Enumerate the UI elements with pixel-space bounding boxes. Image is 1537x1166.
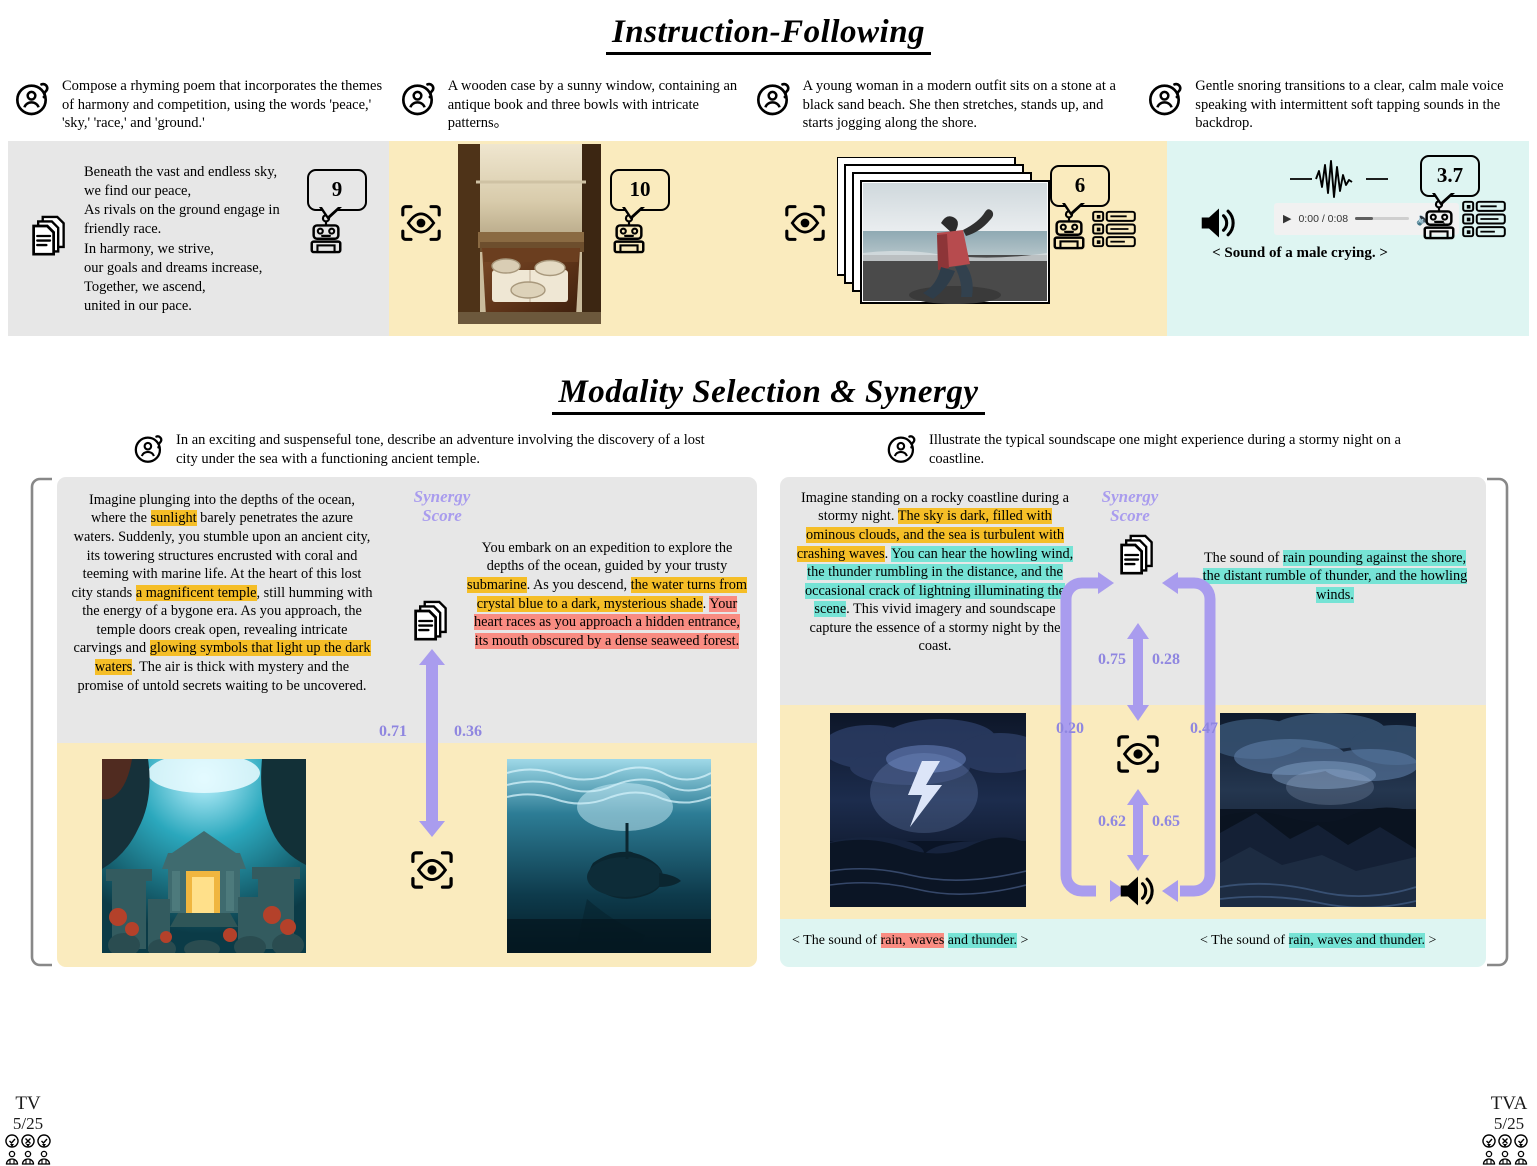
score-bubble: 10 — [610, 169, 670, 211]
score-bubble: 3.7 — [1420, 155, 1480, 197]
score-vision-audio-left: 0.62 — [1098, 813, 1126, 831]
prompt-cell-image: A wooden case by a sunny window, contain… — [394, 73, 749, 136]
highlight-y: submarine — [467, 577, 527, 593]
score-robot-audio: 3.7 — [1420, 155, 1506, 240]
generated-video-frames-beach — [837, 157, 1052, 305]
page-title-instruction-following: Instruction-Following — [606, 14, 931, 55]
document-stack-icon — [30, 214, 70, 258]
prompt-left: In an exciting and suspenseful tone, des… — [133, 431, 713, 469]
count-label: 5/25 — [4, 1114, 52, 1133]
speaker-icon — [1116, 871, 1160, 911]
score-robot-image: 10 — [610, 169, 670, 254]
rich-text: Imagine standing on a rocky coastline du… — [797, 490, 1073, 655]
output-cell-audio: ▶ 0:00 / 0:08 🔈 ⋮ < Sound of a male cryi… — [1167, 141, 1529, 336]
text-run: . As you descend, — [527, 577, 631, 593]
prompt-text: Gentle snoring transitions to a clear, c… — [1195, 77, 1519, 132]
panel-left: In an exciting and suspenseful tone, des… — [0, 431, 768, 479]
audio-progress-bar[interactable] — [1355, 217, 1409, 220]
prompt-text: Compose a rhyming poem that incorporates… — [62, 77, 384, 132]
output-text-a: Imagine plunging into the depths of the … — [71, 491, 373, 695]
robot-icon — [610, 214, 648, 254]
robot-icon — [1050, 210, 1088, 250]
prompt-text: In an exciting and suspenseful tone, des… — [176, 431, 713, 469]
person-question-icon — [14, 79, 54, 119]
output-text-a: Imagine standing on a rocky coastline du… — [794, 489, 1076, 656]
synergy-line2: Score — [1070, 506, 1190, 525]
prompt-right: Illustrate the typical soundscape one mi… — [886, 431, 1446, 469]
generated-image-submarine — [507, 759, 711, 953]
score-outer-right: 0.47 — [1190, 720, 1218, 738]
eye-scan-icon — [409, 849, 455, 891]
text-run: > — [1017, 933, 1028, 948]
rich-text: The sound of rain pounding against the s… — [1203, 550, 1468, 603]
synergy-arrow-vertical — [415, 649, 449, 837]
document-stack-icon — [1118, 533, 1158, 577]
audio-caption: < Sound of a male crying. > — [1119, 245, 1481, 262]
bracket-right — [1485, 477, 1509, 967]
synergy-line1: Synergy — [1070, 487, 1190, 506]
verdict-icons — [1481, 1133, 1537, 1166]
text-run: . This vivid imagery and soundscape capt… — [810, 601, 1061, 654]
count-label: 5/25 — [1481, 1114, 1537, 1133]
highlight-y: a magnificent temple — [136, 585, 257, 601]
synergy-score-left-value: 0.71 — [379, 723, 407, 741]
checklist-icon — [1462, 200, 1506, 238]
score-text-vision-right: 0.28 — [1152, 651, 1180, 669]
modalities-label: TVA — [1481, 1093, 1537, 1114]
synergy-score-right-value: 0.36 — [454, 723, 482, 741]
person-question-icon — [1147, 79, 1187, 119]
score-bubble: 6 — [1050, 165, 1110, 207]
prompt-cell-text: Compose a rhyming poem that incorporates… — [8, 73, 394, 136]
eye-scan-icon — [783, 203, 827, 243]
score-bubble: 9 — [307, 169, 367, 211]
highlight-r: rain, waves — [881, 933, 945, 948]
text-run: > — [1425, 933, 1436, 948]
generated-image-sunken-temple — [102, 759, 306, 953]
panel-right: Illustrate the typical soundscape one mi… — [768, 431, 1537, 479]
score-robot-text: 9 — [307, 169, 367, 254]
generated-image-lightning-storm — [830, 713, 1026, 907]
audio-caption-left: < The sound of rain, waves and thunder. … — [792, 933, 1062, 949]
synergy-score-label-left: Synergy Score — [387, 487, 497, 525]
waveform-icon — [1290, 159, 1388, 199]
output-text-b: You embark on an expedition to explore t… — [467, 539, 747, 650]
top-output-strip: Beneath the vast and endless sky, we fin… — [8, 141, 1529, 336]
speaker-icon — [1197, 203, 1241, 243]
checklist-icon — [1092, 210, 1136, 248]
synergy-score-label-right: Synergy Score — [1070, 487, 1190, 525]
generated-image-wooden-case — [458, 144, 601, 324]
rich-text: Imagine plunging into the depths of the … — [71, 492, 372, 694]
person-question-icon — [400, 79, 440, 119]
bracket-label-right: TVA 5/25 — [1481, 1093, 1537, 1166]
person-question-icon — [755, 79, 795, 119]
prompt-text: Illustrate the typical soundscape one mi… — [929, 431, 1446, 469]
text-run: You embark on an expedition to explore t… — [482, 540, 733, 575]
highlight-y: sunlight — [151, 510, 197, 526]
robot-icon — [307, 214, 345, 254]
prompt-cell-video: A young woman in a modern outfit sits on… — [749, 73, 1142, 136]
modalities-label: TV — [4, 1093, 52, 1114]
play-button[interactable]: ▶ — [1283, 212, 1291, 225]
verdict-icons — [4, 1133, 52, 1166]
generated-image-stormy-coast — [1220, 713, 1416, 907]
prompt-text: A young woman in a modern outfit sits on… — [803, 77, 1132, 132]
text-run: < The sound of — [1200, 933, 1289, 948]
poem-text: Beneath the vast and endless sky, we fin… — [84, 163, 280, 317]
text-run: < The sound of — [792, 933, 881, 948]
highlight-c: and thunder. — [948, 933, 1017, 948]
rich-text: You embark on an expedition to explore t… — [467, 540, 747, 649]
card-left: Imagine plunging into the depths of the … — [57, 477, 757, 967]
eye-scan-icon — [1115, 733, 1161, 775]
card-right: Imagine standing on a rocky coastline du… — [780, 477, 1486, 967]
score-robot-video: 6 — [1050, 165, 1136, 250]
bracket-left — [30, 477, 54, 967]
output-text-b: The sound of rain pounding against the s… — [1200, 549, 1470, 605]
output-cell-video: 6 — [778, 141, 1167, 336]
synergy-line1: Synergy — [387, 487, 497, 506]
output-cell-text: Beneath the vast and endless sky, we fin… — [8, 141, 389, 336]
person-question-icon — [886, 432, 920, 466]
rich-text: < The sound of rain, waves and thunder. … — [1200, 933, 1436, 948]
audio-caption-right: < The sound of rain, waves and thunder. … — [1200, 933, 1480, 949]
document-stack-icon — [412, 599, 452, 643]
score-outer-left: 0.20 — [1056, 720, 1084, 738]
score-vision-audio-right: 0.65 — [1152, 813, 1180, 831]
highlight-c: rain, waves and thunder. — [1289, 933, 1425, 948]
output-cell-image: 10 — [389, 141, 778, 336]
prompt-cell-audio: Gentle snoring transitions to a clear, c… — [1141, 73, 1529, 136]
prompt-text: A wooden case by a sunny window, contain… — [448, 77, 739, 132]
page-title-modality-selection: Modality Selection & Synergy — [552, 374, 984, 415]
eye-scan-icon — [399, 203, 443, 243]
rich-text: < The sound of rain, waves and thunder. … — [792, 933, 1028, 948]
person-question-icon — [133, 432, 167, 466]
robot-icon — [1420, 200, 1458, 240]
synergy-line2: Score — [387, 506, 497, 525]
audio-time: 0:00 / 0:08 — [1298, 213, 1348, 225]
bracket-label-left: TV 5/25 — [4, 1093, 52, 1166]
top-prompt-row: Compose a rhyming poem that incorporates… — [0, 73, 1537, 136]
score-text-vision-left: 0.75 — [1098, 651, 1126, 669]
